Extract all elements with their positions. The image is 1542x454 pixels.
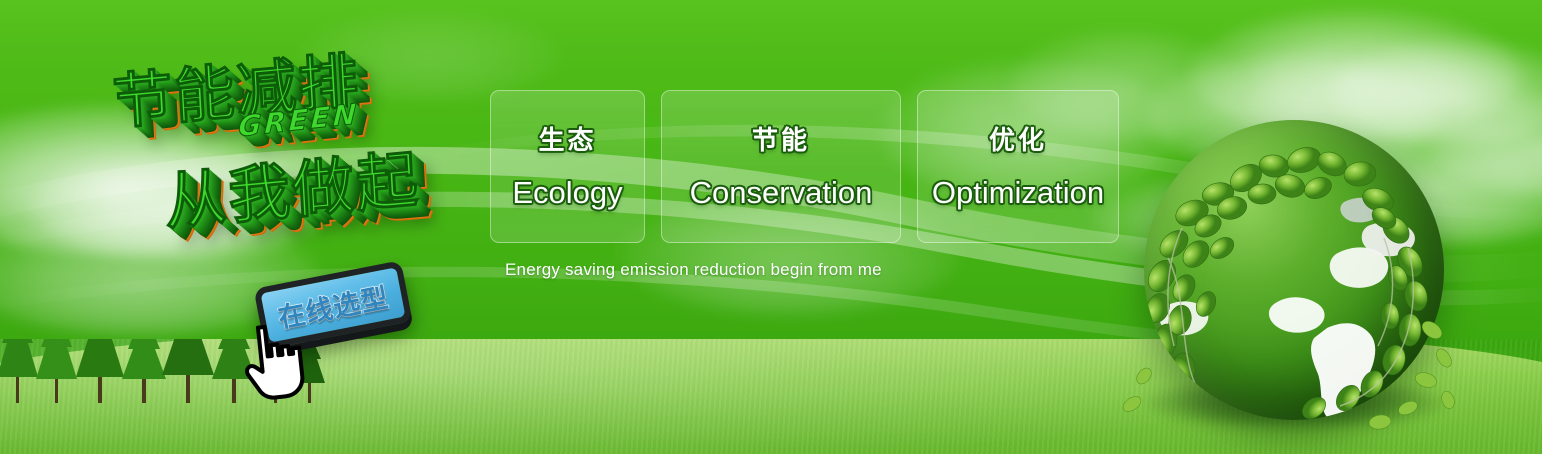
feature-card-cn-label: 生态 — [538, 120, 596, 157]
feature-card-en-label: Conservation — [690, 175, 873, 211]
pine-tree-icon — [294, 339, 325, 403]
feature-card-conservation[interactable]: 节能 Conservation — [661, 90, 901, 243]
feature-card-cn-label: 优化 — [989, 120, 1047, 157]
pine-tree-icon — [257, 339, 294, 403]
feature-card-list: 生态 Ecology 节能 Conservation 优化 Optimizati… — [490, 90, 1119, 243]
feature-card-en-label: Optimization — [932, 175, 1104, 211]
feature-card-ecology[interactable]: 生态 Ecology — [490, 90, 645, 243]
pine-tree-icon — [122, 339, 166, 403]
pine-tree-group — [0, 339, 330, 406]
feature-card-optimization[interactable]: 优化 Optimization — [917, 90, 1119, 243]
globe-overlay — [1122, 108, 1462, 448]
pine-tree-icon — [0, 339, 38, 403]
headline-line-bottom: 从我做起 — [162, 129, 422, 242]
banner-tagline: Energy saving emission reduction begin f… — [505, 260, 882, 280]
pine-tree-icon — [36, 339, 77, 403]
leafy-earth-globe — [1122, 108, 1462, 448]
feature-card-en-label: Ecology — [512, 175, 622, 211]
feature-card-cn-label: 节能 — [752, 120, 810, 157]
online-selection-label: 在线选型 — [274, 275, 391, 335]
headline-3d: 节能减排 GREEN 从我做起 — [94, 25, 497, 281]
pine-tree-icon — [76, 339, 124, 403]
green-energy-banner: 节能减排 GREEN 从我做起 在线选型 生态 Ecology 节能 Conse… — [0, 0, 1542, 454]
pine-tree-icon — [212, 339, 256, 403]
leaf-canopy — [1143, 143, 1431, 423]
pine-tree-icon — [162, 339, 214, 403]
